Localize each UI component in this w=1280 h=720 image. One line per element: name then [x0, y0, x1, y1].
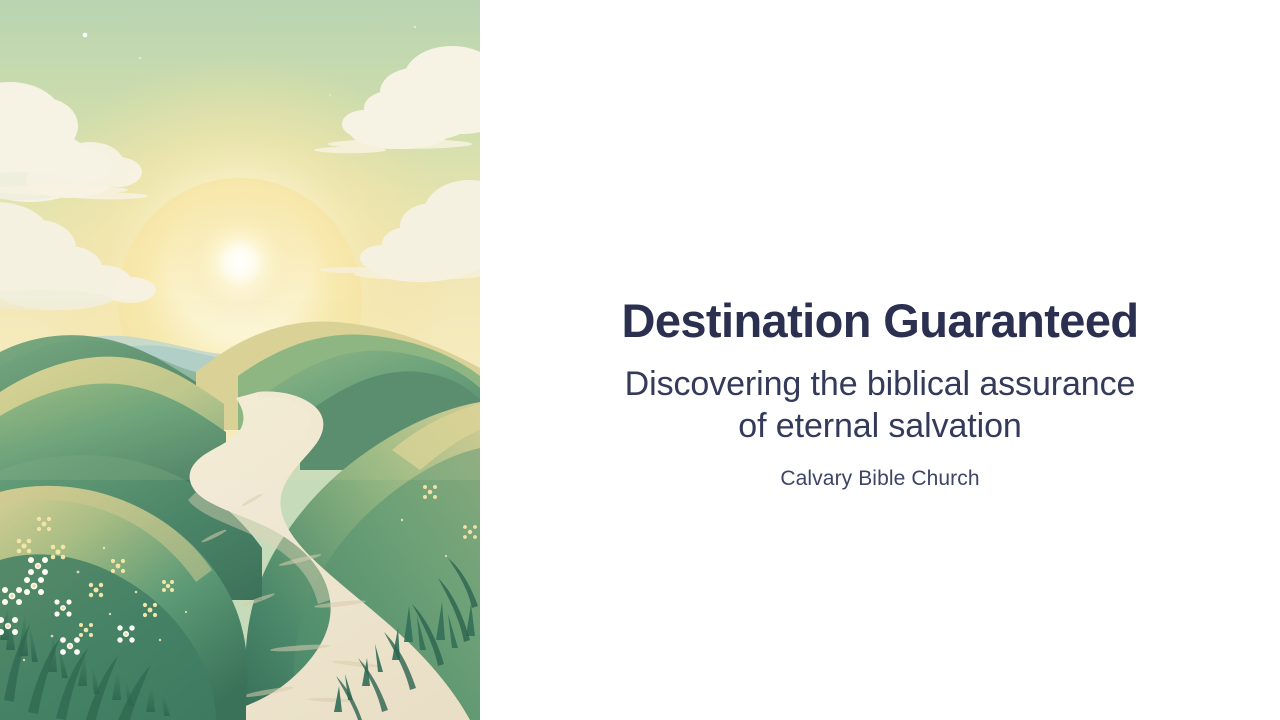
- title-text-block: Destination Guaranteed Discovering the b…: [480, 296, 1280, 491]
- landscape-illustration: [0, 0, 480, 720]
- slide-subtitle-line-1: Discovering the biblical assurance: [625, 365, 1136, 403]
- illustration-panel: [0, 0, 480, 720]
- page-title: Destination Guaranteed: [504, 296, 1256, 346]
- organization-name: Calvary Bible Church: [504, 467, 1256, 491]
- slide-subtitle: Discovering the biblical assurance of et…: [560, 363, 1200, 448]
- star-speck-icon: [139, 57, 141, 59]
- slide-subtitle-line-2: of eternal salvation: [738, 407, 1021, 445]
- text-panel: Destination Guaranteed Discovering the b…: [480, 0, 1280, 720]
- light-wash: [0, 300, 480, 480]
- star-speck-2-icon: [414, 26, 416, 28]
- star-icon: [83, 33, 88, 38]
